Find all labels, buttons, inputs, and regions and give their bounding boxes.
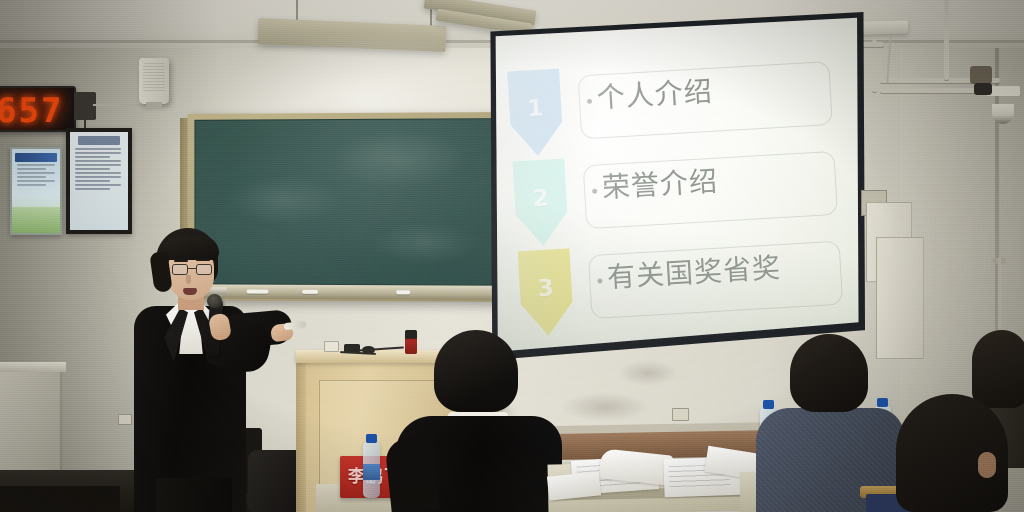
classroom-presentation-photo: 657 <box>0 0 1024 512</box>
conduit-pipe <box>862 42 884 47</box>
poster-text-line <box>75 160 121 162</box>
presenter-nose <box>186 275 191 284</box>
chalk-stick <box>302 290 318 294</box>
slide-row-text: 荣誉介绍 <box>601 163 719 208</box>
power-outlet <box>672 408 689 421</box>
poster-text-line <box>17 184 46 186</box>
bottle-cap <box>877 398 888 407</box>
presenter-remote-icon <box>284 321 307 330</box>
chevron-1: 1 <box>507 69 564 158</box>
presenter-mouth <box>183 288 197 295</box>
chevron-2: 2 <box>512 158 569 247</box>
chevron-number: 3 <box>537 275 554 302</box>
poster-text-line <box>75 156 110 158</box>
clock-wire <box>93 104 141 106</box>
chalk-smudge <box>330 129 467 189</box>
presenter <box>128 228 304 512</box>
glasses-lens <box>196 264 212 275</box>
glasses-lens <box>172 264 188 275</box>
poster-text-line <box>75 188 110 190</box>
wall-stain <box>560 392 650 422</box>
audience-front-right-ear <box>978 452 996 478</box>
presenter-eyebrow <box>196 259 210 261</box>
dark-furniture <box>0 486 120 512</box>
conduit-pipe <box>944 0 949 80</box>
poster-text-line <box>17 176 46 178</box>
poster-text-line <box>75 184 121 186</box>
presentation-slide: 1 个人介绍 2 荣誉介绍 3 <box>492 16 860 354</box>
water-bottle <box>363 442 380 498</box>
poster-left <box>10 147 62 235</box>
lectern-side <box>296 362 306 512</box>
slide-row: 3 有关国奖省奖 <box>518 232 852 337</box>
poster-text-line <box>75 176 121 178</box>
poster-text-line <box>75 152 121 154</box>
security-camera-housing <box>970 66 992 84</box>
chevron-number: 2 <box>532 185 549 212</box>
bottle-cap <box>366 434 377 443</box>
poster-text-line <box>75 148 121 150</box>
projector-screen: 1 个人介绍 2 荣誉介绍 3 <box>492 16 860 354</box>
poster-left-title <box>15 153 57 162</box>
digital-clock: 657 <box>0 86 76 132</box>
conduit-pipe <box>872 40 877 92</box>
poster-text-line <box>17 172 55 174</box>
poster-left-illustration <box>12 207 60 233</box>
audience-right-head <box>790 334 868 412</box>
chevron-number: 1 <box>527 96 544 123</box>
power-outlet <box>324 341 339 352</box>
poster-text-line <box>17 168 46 170</box>
security-camera-arm <box>974 83 992 95</box>
slide-row-text: 个人介绍 <box>596 73 714 118</box>
clock-mount-bracket <box>74 92 96 120</box>
poster-text-line <box>75 180 110 182</box>
cabinet-top <box>0 362 66 372</box>
poster-text-line <box>75 172 121 174</box>
desk-object <box>405 330 417 354</box>
presenter-hair-fringe <box>161 236 219 260</box>
wall-stain <box>618 360 678 386</box>
bottle-cap <box>763 400 774 409</box>
wall-speaker <box>139 58 169 104</box>
chalk-stick <box>396 290 410 294</box>
chalk-smudge <box>372 222 480 265</box>
speaker-bracket <box>146 102 162 108</box>
slide-row: 2 荣誉介绍 <box>512 142 846 247</box>
audience-center-head <box>434 330 518 412</box>
speaker-grill <box>143 63 165 93</box>
slide-row: 1 个人介绍 <box>507 53 841 158</box>
wall-panel <box>876 237 924 359</box>
glasses-bridge <box>188 268 196 269</box>
poster-right-title <box>78 136 121 145</box>
poster-text-line <box>75 164 121 166</box>
poster-text-line <box>75 168 110 170</box>
presenter-eyebrow <box>174 260 188 262</box>
chalk-smudge <box>225 176 342 225</box>
glasses-icon <box>172 264 214 275</box>
chevron-3: 3 <box>518 248 575 337</box>
poster-text-line <box>17 164 55 166</box>
presenter-trousers <box>156 478 232 512</box>
bottle-label <box>363 464 380 480</box>
poster-text-line <box>17 180 55 182</box>
poster-right <box>66 128 132 234</box>
audience-center-shoulder <box>384 436 439 512</box>
audience-far-right-head <box>972 330 1024 408</box>
clock-digits: 657 <box>0 91 63 131</box>
